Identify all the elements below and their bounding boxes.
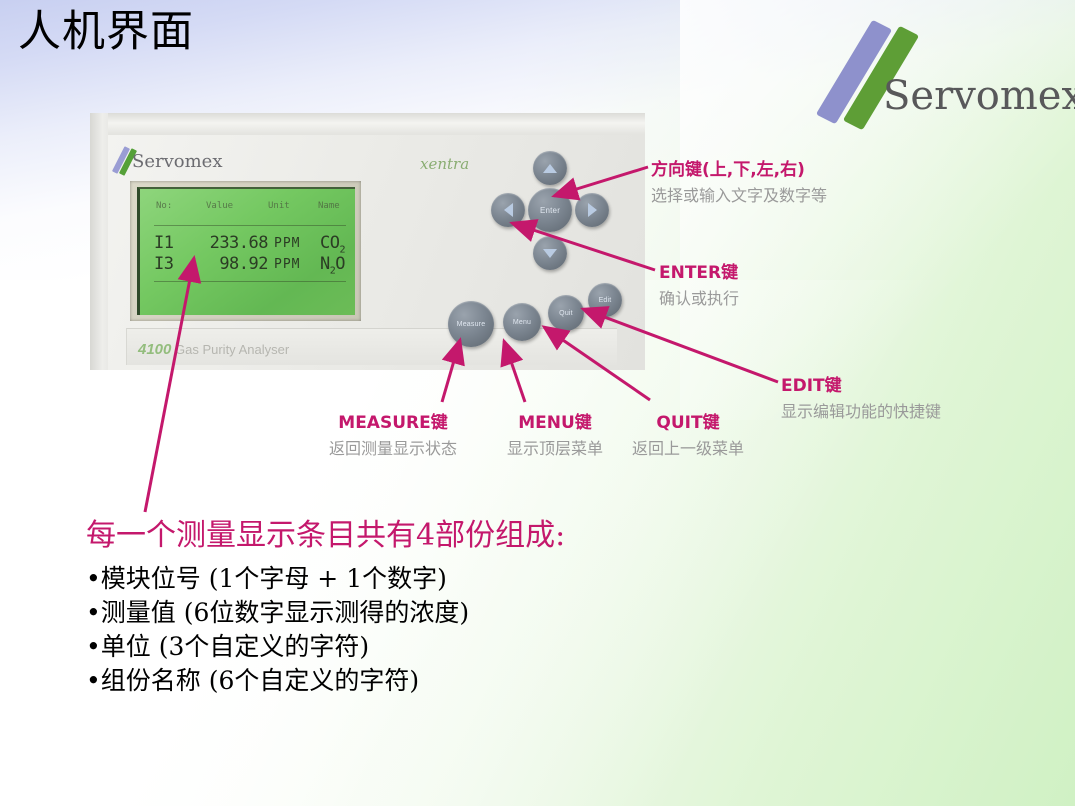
photo-bezel-left (90, 113, 108, 370)
keypad-left-button[interactable] (491, 193, 525, 227)
callout-direction-title: 方向键(上,下,左,右) (651, 155, 827, 180)
callout-edit-title: EDIT键 (781, 371, 941, 396)
lcd-row-no: I1 (154, 233, 173, 253)
callout-quit-key: QUIT键 返回上一级菜单 (632, 408, 744, 459)
slide-canvas: 人机界面 Servomex Servomex xentra No: Value … (0, 0, 1075, 806)
device-footer-text: Gas Purity Analyser (175, 342, 289, 357)
device-footer-model: 4100 (138, 341, 171, 358)
callout-measure-title: MEASURE键 (329, 408, 457, 433)
lcd-row: I1 233.68 PPM CO2 (140, 233, 355, 254)
lcd-row-name: CO2 (320, 233, 345, 255)
callout-edit-key: EDIT键 显示编辑功能的快捷键 (781, 371, 941, 422)
up-arrow-icon (543, 164, 557, 173)
list-item: •单位 (3个自定义的字符) (86, 630, 966, 664)
callout-quit-title: QUIT键 (632, 408, 744, 433)
servomex-logo: Servomex (795, 25, 1065, 130)
lcd-measurement-rows: I1 233.68 PPM CO2 I3 98.92 PPM N2O (140, 233, 355, 275)
device-keypad: Enter Measure Menu Quit Edit (420, 143, 620, 368)
callout-measure-key: MEASURE键 返回测量显示状态 (329, 408, 457, 459)
lcd-divider-top (154, 225, 346, 226)
callout-menu-desc: 显示顶层菜单 (507, 435, 603, 459)
left-arrow-icon (504, 203, 513, 217)
bottom-text-block: 每一个测量显示条目共有4部份组成: •模块位号 (1个字母 + 1个数字) •测… (86, 518, 966, 698)
lcd-row-name: N2O (320, 254, 345, 276)
lcd-header-name: Name (318, 201, 340, 211)
lcd-screen: No: Value Unit Name I1 233.68 PPM CO2 I3 (137, 187, 355, 315)
list-item: •模块位号 (1个字母 + 1个数字) (86, 562, 966, 596)
callout-direction-keys: 方向键(上,下,左,右) 选择或输入文字及数字等 (651, 155, 827, 206)
analyser-photo: Servomex xentra No: Value Unit Name I1 2… (90, 113, 645, 370)
lcd-header-unit: Unit (268, 201, 290, 211)
keypad-measure-button[interactable]: Measure (448, 301, 494, 347)
lcd-row-unit: PPM (274, 236, 300, 251)
lcd-frame: No: Value Unit Name I1 233.68 PPM CO2 I3 (130, 181, 361, 321)
lcd-row-value: 98.92 (186, 254, 268, 274)
device-brand-wordmark: Servomex (132, 152, 222, 172)
bottom-heading: 每一个测量显示条目共有4部份组成: (86, 518, 966, 554)
keypad-down-button[interactable] (533, 236, 567, 270)
keypad-enter-button[interactable]: Enter (528, 188, 572, 232)
callout-menu-key: MENU键 显示顶层菜单 (507, 408, 603, 459)
photo-bezel-top (90, 113, 645, 135)
callout-enter-title: ENTER键 (659, 258, 739, 283)
lcd-row-no: I3 (154, 254, 173, 274)
device-footer-label: 4100 Gas Purity Analyser (138, 341, 289, 358)
lcd-row-unit: PPM (274, 257, 300, 272)
list-item: •组份名称 (6个自定义的字符) (86, 664, 966, 698)
list-item: •测量值 (6位数字显示测得的浓度) (86, 596, 966, 630)
callout-enter-key: ENTER键 确认或执行 (659, 258, 739, 309)
lcd-header-value: Value (206, 201, 233, 211)
callout-edit-desc: 显示编辑功能的快捷键 (781, 398, 941, 422)
callout-quit-desc: 返回上一级菜单 (632, 435, 744, 459)
down-arrow-icon (543, 249, 557, 258)
keypad-up-button[interactable] (533, 151, 567, 185)
keypad-quit-button[interactable]: Quit (548, 295, 584, 331)
lcd-column-headers: No: Value Unit Name (140, 201, 355, 217)
keypad-right-button[interactable] (575, 193, 609, 227)
callout-enter-desc: 确认或执行 (659, 285, 739, 309)
keypad-menu-button[interactable]: Menu (503, 303, 541, 341)
lcd-divider-bottom (154, 281, 346, 282)
lcd-row: I3 98.92 PPM N2O (140, 254, 355, 275)
callout-direction-desc: 选择或输入文字及数字等 (651, 182, 827, 206)
lcd-row-value: 233.68 (186, 233, 268, 253)
callout-measure-desc: 返回测量显示状态 (329, 435, 457, 459)
keypad-edit-button[interactable]: Edit (588, 283, 622, 317)
bottom-bullet-list: •模块位号 (1个字母 + 1个数字) •测量值 (6位数字显示测得的浓度) •… (86, 562, 966, 698)
page-title: 人机界面 (18, 6, 194, 58)
right-arrow-icon (588, 203, 597, 217)
logo-wordmark: Servomex (883, 73, 1075, 119)
device-brand-logo: Servomex (110, 146, 250, 176)
callout-menu-title: MENU键 (507, 408, 603, 433)
lcd-header-no: No: (156, 201, 172, 211)
